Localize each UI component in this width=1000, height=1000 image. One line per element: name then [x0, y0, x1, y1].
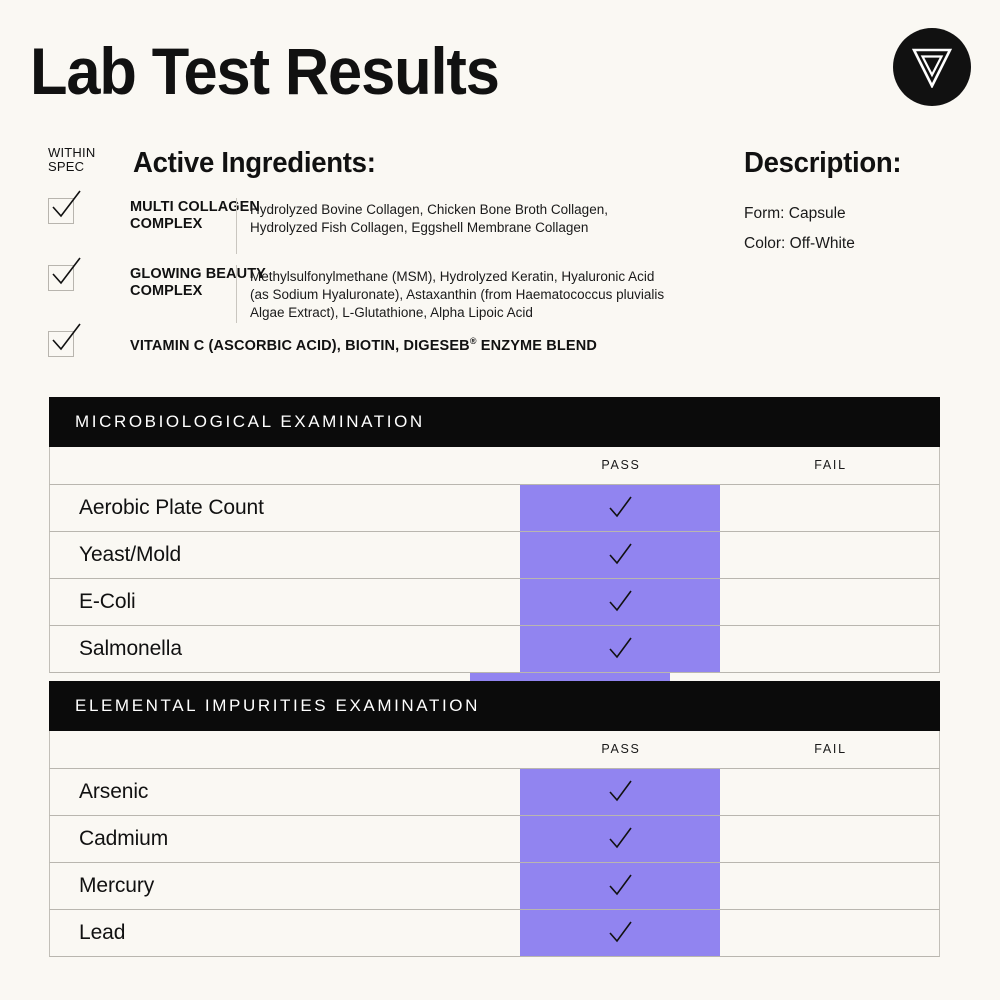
table-row: Mercury	[49, 863, 940, 910]
pass-cell[interactable]	[520, 579, 720, 625]
test-name: Arsenic	[79, 780, 148, 804]
fail-cell[interactable]	[720, 816, 940, 862]
table-row: Lead	[49, 910, 940, 957]
ingredient-detail: Hydrolyzed Bovine Collagen, Chicken Bone…	[250, 201, 675, 237]
test-name: Aerobic Plate Count	[79, 496, 264, 520]
description-color: Color: Off-White	[744, 235, 855, 253]
pass-cell[interactable]	[520, 626, 720, 672]
check-icon	[607, 873, 633, 899]
check-icon	[607, 826, 633, 852]
table-row: Salmonella	[49, 626, 940, 673]
within-spec-label: WITHIN SPEC	[48, 146, 95, 174]
check-icon	[607, 779, 633, 805]
brand-triangle-logo	[893, 28, 971, 106]
test-name: Yeast/Mold	[79, 543, 181, 567]
table-row: Aerobic Plate Count	[49, 485, 940, 532]
within-spec-line2: SPEC	[48, 160, 95, 174]
accent-column-bleed	[470, 673, 670, 681]
elemental-impurities-table: ELEMENTAL IMPURITIES EXAMINATION PASS FA…	[49, 681, 940, 957]
table-section-header: ELEMENTAL IMPURITIES EXAMINATION	[49, 681, 940, 731]
fail-cell[interactable]	[720, 532, 940, 578]
ingredient-name: MULTI COLLAGEN COMPLEX	[130, 199, 270, 233]
table-row: Cadmium	[49, 816, 940, 863]
ingredient-name-wide: VITAMIN C (ASCORBIC ACID), BIOTIN, DIGES…	[130, 336, 597, 354]
pass-cell[interactable]	[520, 485, 720, 531]
pass-cell[interactable]	[520, 816, 720, 862]
fail-cell[interactable]	[720, 626, 940, 672]
fail-cell[interactable]	[720, 863, 940, 909]
table-column-header-row: PASS FAIL	[49, 731, 940, 769]
test-name: Cadmium	[79, 827, 168, 851]
test-name: Salmonella	[79, 637, 182, 661]
table-row: Arsenic	[49, 769, 940, 816]
within-spec-line1: WITHIN	[48, 146, 95, 160]
check-icon	[607, 636, 633, 662]
within-spec-checkbox[interactable]	[48, 331, 74, 357]
ingredient-name: GLOWING BEAUTY COMPLEX	[130, 266, 270, 300]
pass-cell[interactable]	[520, 769, 720, 815]
within-spec-checkbox[interactable]	[48, 198, 74, 224]
ingredient-name-tail: ENZYME BLEND	[477, 338, 597, 354]
pass-cell[interactable]	[520, 532, 720, 578]
check-icon	[607, 920, 633, 946]
column-header-fail: FAIL	[721, 742, 940, 756]
check-icon	[607, 589, 633, 615]
table-section-header-label: MICROBIOLOGICAL EXAMINATION	[75, 412, 425, 432]
table-section-header: MICROBIOLOGICAL EXAMINATION	[49, 397, 940, 447]
table-row: E-Coli	[49, 579, 940, 626]
column-header-pass: PASS	[521, 458, 721, 472]
table-column-header-row: PASS FAIL	[49, 447, 940, 485]
test-name: E-Coli	[79, 590, 136, 614]
ingredient-detail: Methylsulfonylmethane (MSM), Hydrolyzed …	[250, 268, 675, 322]
microbiological-table: MICROBIOLOGICAL EXAMINATION PASS FAIL Ae…	[49, 397, 940, 673]
description-heading: Description:	[744, 147, 901, 180]
column-header-fail: FAIL	[721, 458, 940, 472]
test-name: Lead	[79, 921, 125, 945]
within-spec-checkbox[interactable]	[48, 265, 74, 291]
fail-cell[interactable]	[720, 485, 940, 531]
description-form: Form: Capsule	[744, 205, 846, 223]
page-title: Lab Test Results	[30, 38, 499, 104]
table-row: Yeast/Mold	[49, 532, 940, 579]
pass-cell[interactable]	[520, 910, 720, 956]
test-name: Mercury	[79, 874, 154, 898]
column-header-pass: PASS	[521, 742, 721, 756]
ingredient-divider	[236, 265, 237, 323]
ingredient-name-main: VITAMIN C (ASCORBIC ACID), BIOTIN, DIGES…	[130, 338, 470, 354]
table-section-header-label: ELEMENTAL IMPURITIES EXAMINATION	[75, 696, 480, 716]
check-icon	[607, 495, 633, 521]
registered-mark: ®	[470, 336, 477, 346]
fail-cell[interactable]	[720, 579, 940, 625]
active-ingredients-heading: Active Ingredients:	[133, 147, 376, 180]
ingredient-divider	[236, 198, 237, 254]
lab-test-results-page: Lab Test Results WITHIN SPEC Active Ingr…	[0, 0, 1000, 1000]
fail-cell[interactable]	[720, 769, 940, 815]
pass-cell[interactable]	[520, 863, 720, 909]
check-icon	[607, 542, 633, 568]
fail-cell[interactable]	[720, 910, 940, 956]
